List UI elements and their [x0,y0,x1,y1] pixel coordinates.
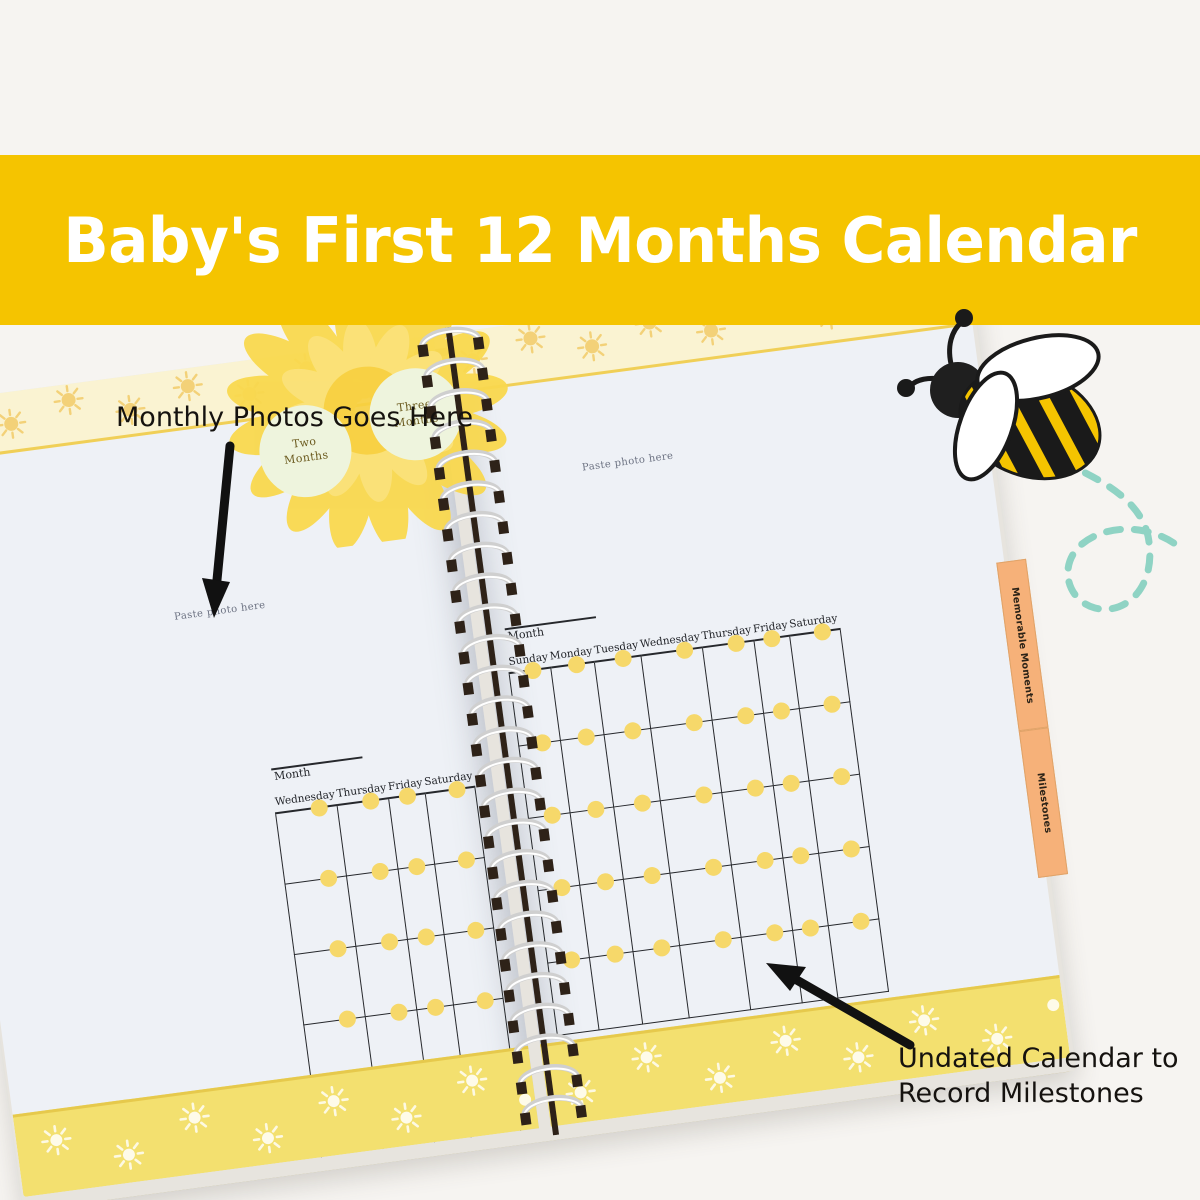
page-title: Baby's First 12 Months Calendar [63,204,1137,277]
calendar-day-dot [633,794,652,813]
poster-canvas: Paste photo here Month WednesdayThursday… [0,0,1200,1200]
photo-placeholder-caption-right: Paste photo here [581,451,674,474]
calendar-day-dot [398,787,417,806]
photo-placeholder-caption-left: Paste photo here [174,600,267,623]
calendar-day-cell[interactable] [809,774,869,853]
calendar-day-cell[interactable] [819,847,879,926]
callout-undated-calendar: Undated Calendar to Record Milestones [898,1042,1179,1111]
calendar-day-dot [832,767,851,786]
calendar-day-dot [822,695,841,714]
calendar-day-cell[interactable] [741,930,802,1009]
calendar-day-cell[interactable] [641,647,712,728]
calendar-day-cell[interactable] [829,919,889,998]
calendar-day-cell[interactable] [722,786,783,865]
calendar-day-cell[interactable] [712,713,773,792]
calendar-grid-right: SundayMondayTuesdayWednesdayThursdayFrid… [506,608,889,1036]
calendar-day-cell[interactable] [285,876,356,955]
calendar-day-dot [542,806,561,825]
calendar-day-dot [623,721,642,740]
calendar-day-cell[interactable] [444,928,503,1005]
calendar-day-cell[interactable] [731,858,792,937]
calendar-day-cell[interactable] [790,629,850,709]
tab-milestones-label: Milestones [1034,772,1053,834]
calendar-day-cell[interactable] [670,865,741,946]
bee-flight-trail-icon [1060,461,1180,609]
calendar-day-cell[interactable] [679,937,750,1018]
calendar-day-dot [613,649,632,668]
calendar-day-cell[interactable] [660,793,731,874]
calendar-day-dot [533,733,552,752]
calendar-day-dot [407,857,426,876]
calendar-day-dot [746,779,765,798]
calendar-day-dot [426,998,445,1017]
calendar-day-dot [726,634,745,653]
callout-monthly-photos: Monthly Photos Goes Here [116,401,473,436]
calendar-day-dot [562,950,581,969]
calendar-day-dot [765,923,784,942]
book-page-right: Paste photo here Month SundayMondayTuesd… [445,264,1070,1126]
calendar-day-cell[interactable] [356,939,417,1016]
calendar-day-dot [523,661,542,680]
calendar-day-dot [642,866,661,885]
calendar-day-dot [841,839,860,858]
calendar-day-cell[interactable] [434,858,493,935]
calendar-day-cell[interactable] [347,869,408,946]
calendar-day-dot [736,706,755,725]
calendar-day-cell[interactable] [294,946,365,1025]
calendar-day-dot [755,851,774,870]
calendar-day-cell[interactable] [337,798,398,876]
title-banner: Baby's First 12 Months Calendar [0,155,1200,325]
calendar-day-dot [552,878,571,897]
calendar-day-cell[interactable] [276,805,347,884]
calendar-day-cell[interactable] [800,702,860,781]
calendar-day-dot [652,938,671,957]
calendar-day-dot [851,912,870,931]
calendar-day-cell[interactable] [425,787,484,865]
tab-memorable-moments-label: Memorable Moments [1009,586,1035,704]
calendar-day-dot [416,927,435,946]
decorative-strip-top-left [0,335,441,464]
calendar-day-cell[interactable] [650,720,721,801]
calendar-day-dot [812,622,831,641]
calendar-day-cell[interactable] [702,641,763,721]
